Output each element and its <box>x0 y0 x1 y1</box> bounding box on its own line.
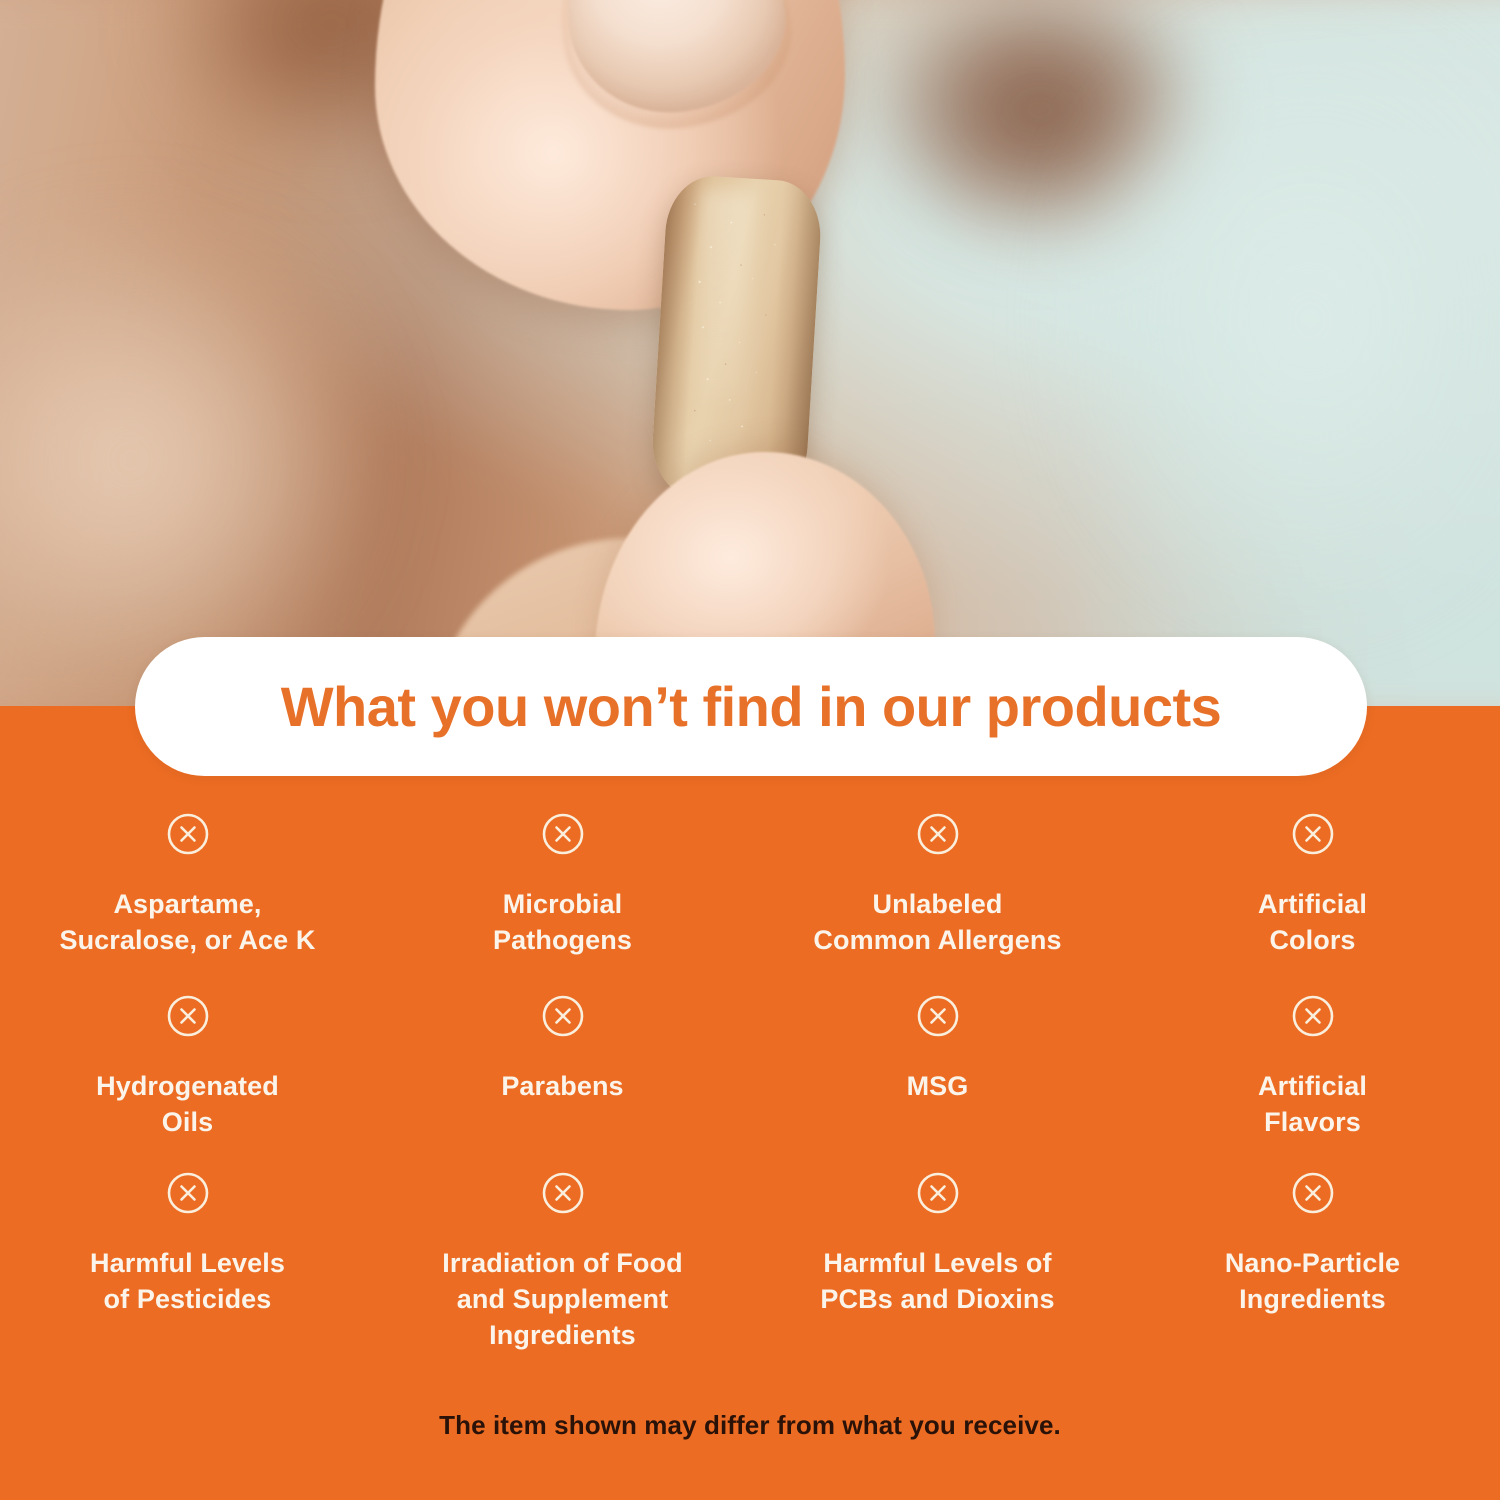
grid-item: Nano-Particle Ingredients <box>1125 1171 1500 1318</box>
grid-item-label: Nano-Particle Ingredients <box>1225 1246 1400 1318</box>
grid-item: Irradiation of Food and Supplement Ingre… <box>375 1171 750 1354</box>
circle-x-icon <box>1291 812 1335 856</box>
page-title-emphasis: won’t <box>544 675 688 738</box>
grid-item: MSG <box>750 994 1125 1105</box>
disclaimer-text: The item shown may differ from what you … <box>0 1410 1500 1441</box>
grid-item-label: Artificial Flavors <box>1258 1069 1367 1141</box>
circle-x-icon <box>166 1171 210 1215</box>
grid-row-2: Hydrogenated Oils Parabens MSG Artificia… <box>0 994 1500 1171</box>
grid-item: Harmful Levels of PCBs and Dioxins <box>750 1171 1125 1318</box>
grid-item-label: Parabens <box>501 1069 623 1105</box>
grid-item-label: Hydrogenated Oils <box>96 1069 279 1141</box>
photo-bokeh-mint-shape <box>1000 0 1500 700</box>
grid-item-label: Artificial Colors <box>1258 887 1367 959</box>
grid-row-3: Harmful Levels of Pesticides Irradiation… <box>0 1171 1500 1371</box>
grid-item-label: Harmful Levels of Pesticides <box>90 1246 285 1318</box>
grid-item: Hydrogenated Oils <box>0 994 375 1141</box>
grid-item-label: Unlabeled Common Allergens <box>813 887 1061 959</box>
circle-x-icon <box>541 812 585 856</box>
page-title-part-1: What you <box>281 675 544 738</box>
grid-item: Harmful Levels of Pesticides <box>0 1171 375 1318</box>
circle-x-icon <box>541 1171 585 1215</box>
header-pill: What you won’t find in our products <box>135 637 1367 776</box>
page-title-part-2: find in our products <box>687 675 1221 738</box>
circle-x-icon <box>916 812 960 856</box>
grid-item: Aspartame, Sucralose, or Ace K <box>0 812 375 959</box>
circle-x-icon <box>1291 1171 1335 1215</box>
page-title: What you won’t find in our products <box>281 679 1222 735</box>
grid-item: Artificial Flavors <box>1125 994 1500 1141</box>
grid-item: Artificial Colors <box>1125 812 1500 959</box>
grid-item: Parabens <box>375 994 750 1105</box>
circle-x-icon <box>166 812 210 856</box>
circle-x-icon <box>166 994 210 1038</box>
grid-row-1: Aspartame, Sucralose, or Ace K Microbial… <box>0 812 1500 994</box>
circle-x-icon <box>916 994 960 1038</box>
hero-photo <box>0 0 1500 706</box>
grid-item-label: Irradiation of Food and Supplement Ingre… <box>442 1246 682 1354</box>
circle-x-icon <box>1291 994 1335 1038</box>
grid-item-label: Harmful Levels of PCBs and Dioxins <box>820 1246 1054 1318</box>
photo-bokeh-light-shape <box>0 150 440 706</box>
excluded-ingredients-grid: Aspartame, Sucralose, or Ace K Microbial… <box>0 812 1500 1371</box>
grid-item: Microbial Pathogens <box>375 812 750 959</box>
grid-item: Unlabeled Common Allergens <box>750 812 1125 959</box>
circle-x-icon <box>916 1171 960 1215</box>
circle-x-icon <box>541 994 585 1038</box>
product-claims-infographic: What you won’t find in our products Aspa… <box>0 0 1500 1500</box>
grid-item-label: Aspartame, Sucralose, or Ace K <box>59 887 315 959</box>
grid-item-label: Microbial Pathogens <box>493 887 632 959</box>
grid-item-label: MSG <box>907 1069 969 1105</box>
